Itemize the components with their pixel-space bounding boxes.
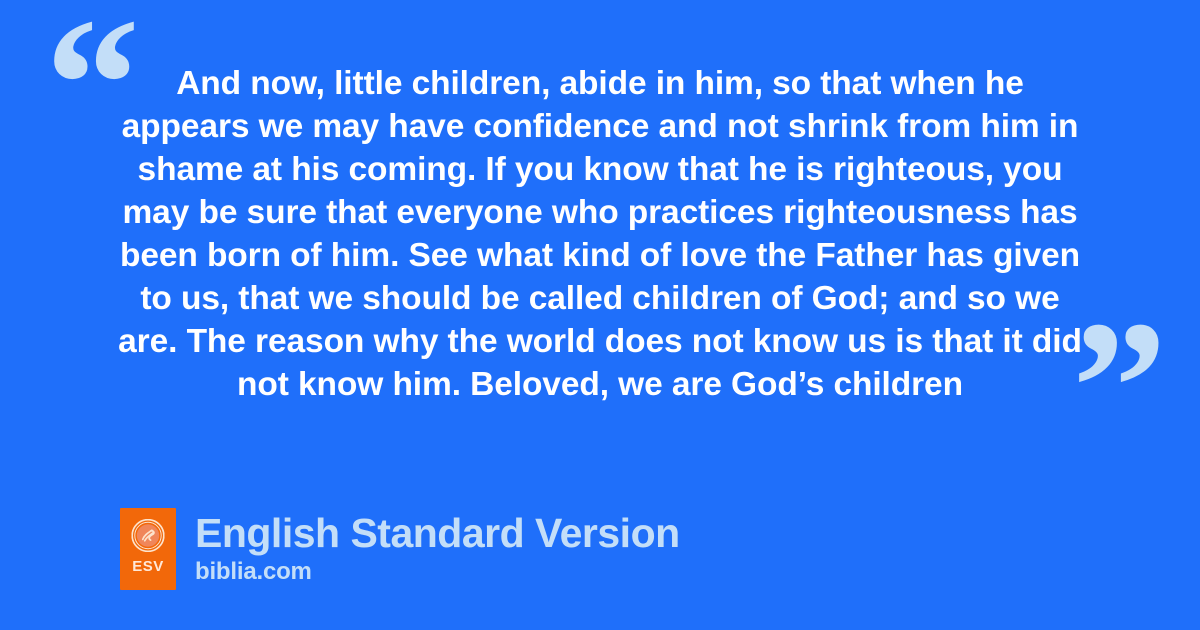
bible-version-title: English Standard Version [195,510,680,557]
quote-line: been born of him. See what kind of love … [100,234,1100,277]
quote-line: are. The reason why the world does not k… [100,320,1100,363]
attribution-footer: ESV English Standard Version biblia.com [120,508,680,590]
closing-quotation-mark-icon: ” [1072,293,1165,483]
site-url-label[interactable]: biblia.com [195,558,680,586]
quote-line: not know him. Beloved, we are God’s chil… [100,363,1100,406]
quote-line: shame at his coming. If you know that he… [100,148,1100,191]
footer-text-group: English Standard Version biblia.com [195,508,680,586]
crossway-seal-icon [132,519,165,552]
verse-quote-card: “ And now, little children, abide in him… [0,0,1200,630]
esv-abbreviation-label: ESV [120,558,176,575]
quote-line: And now, little children, abide in him, … [100,62,1100,105]
quote-line: to us, that we should be called children… [100,277,1100,320]
quote-line: appears we may have confidence and not s… [100,105,1100,148]
quote-line: may be sure that everyone who practices … [100,191,1100,234]
quote-text-block: And now, little children, abide in him, … [100,62,1100,406]
esv-logo: ESV [120,508,176,590]
